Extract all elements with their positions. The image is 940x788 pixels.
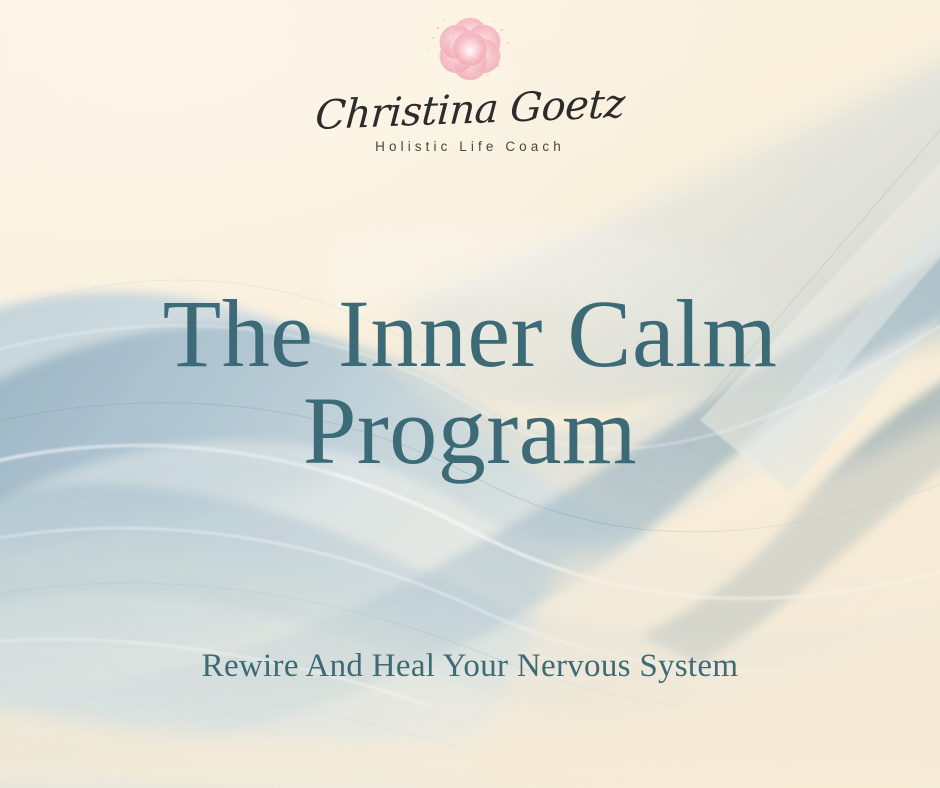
promotional-poster: Christina Goetz Holistic Life Coach The … xyxy=(0,0,940,788)
headline-line-1: The Inner Calm xyxy=(0,286,940,381)
headline-line-2: Program xyxy=(0,383,940,478)
brand-logo: Christina Goetz Holistic Life Coach xyxy=(0,12,940,154)
page-title: The Inner Calm Program xyxy=(0,286,940,478)
page-subtitle: Rewire And Heal Your Nervous System xyxy=(0,648,940,685)
flower-of-life-mandala-icon xyxy=(424,12,516,88)
mandala-logo-mark xyxy=(424,12,516,88)
